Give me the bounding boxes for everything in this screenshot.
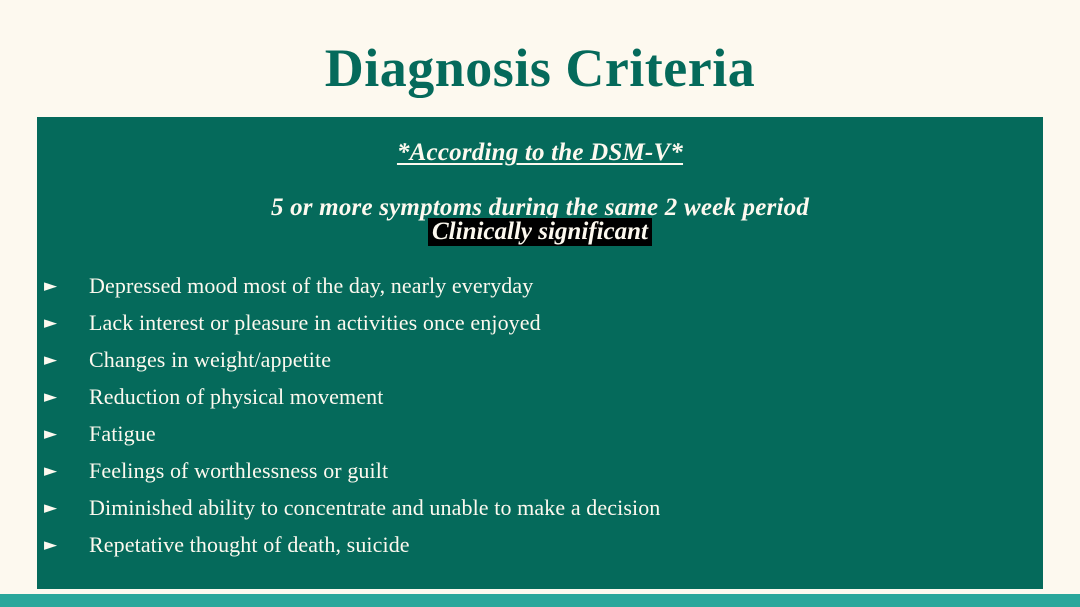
list-item: ► Changes in weight/appetite [37, 347, 1043, 384]
list-item: ► Depressed mood most of the day, nearly… [37, 273, 1043, 310]
list-item: ► Feelings of worthlessness or guilt [37, 458, 1043, 495]
triangle-bullet-icon: ► [37, 421, 89, 447]
list-item: ► Lack interest or pleasure in activitie… [37, 310, 1043, 347]
list-item: ► Reduction of physical movement [37, 384, 1043, 421]
triangle-bullet-icon: ► [37, 273, 89, 299]
list-item-label: Reduction of physical movement [89, 384, 383, 410]
status-badge: Clinically significant [428, 218, 652, 246]
list-item: ► Fatigue [37, 421, 1043, 458]
list-item: ► Repetative thought of death, suicide [37, 532, 1043, 569]
triangle-bullet-icon: ► [37, 384, 89, 410]
list-item: ► Diminished ability to concentrate and … [37, 495, 1043, 532]
list-item-label: Changes in weight/appetite [89, 347, 331, 373]
list-item-label: Depressed mood most of the day, nearly e… [89, 273, 533, 299]
content-panel: *According to the DSM-V* 5 or more sympt… [37, 117, 1043, 589]
list-item-label: Fatigue [89, 421, 156, 447]
list-item-label: Feelings of worthlessness or guilt [89, 458, 388, 484]
list-item-label: Repetative thought of death, suicide [89, 532, 410, 558]
dsm-source-note: *According to the DSM-V* [37, 138, 1043, 168]
triangle-bullet-icon: ► [37, 532, 89, 558]
triangle-bullet-icon: ► [37, 495, 89, 521]
page-title: Diagnosis Criteria [0, 37, 1080, 99]
bottom-accent-bar [0, 594, 1080, 607]
clinically-significant-row: Clinically significant [37, 218, 1043, 250]
list-item-label: Lack interest or pleasure in activities … [89, 310, 541, 336]
triangle-bullet-icon: ► [37, 310, 89, 336]
slide-canvas: Diagnosis Criteria *According to the DSM… [0, 0, 1080, 607]
symptom-list: ► Depressed mood most of the day, nearly… [37, 273, 1043, 569]
triangle-bullet-icon: ► [37, 458, 89, 484]
panel-heading-block: *According to the DSM-V* 5 or more sympt… [37, 117, 1043, 250]
list-item-label: Diminished ability to concentrate and un… [89, 495, 660, 521]
triangle-bullet-icon: ► [37, 347, 89, 373]
